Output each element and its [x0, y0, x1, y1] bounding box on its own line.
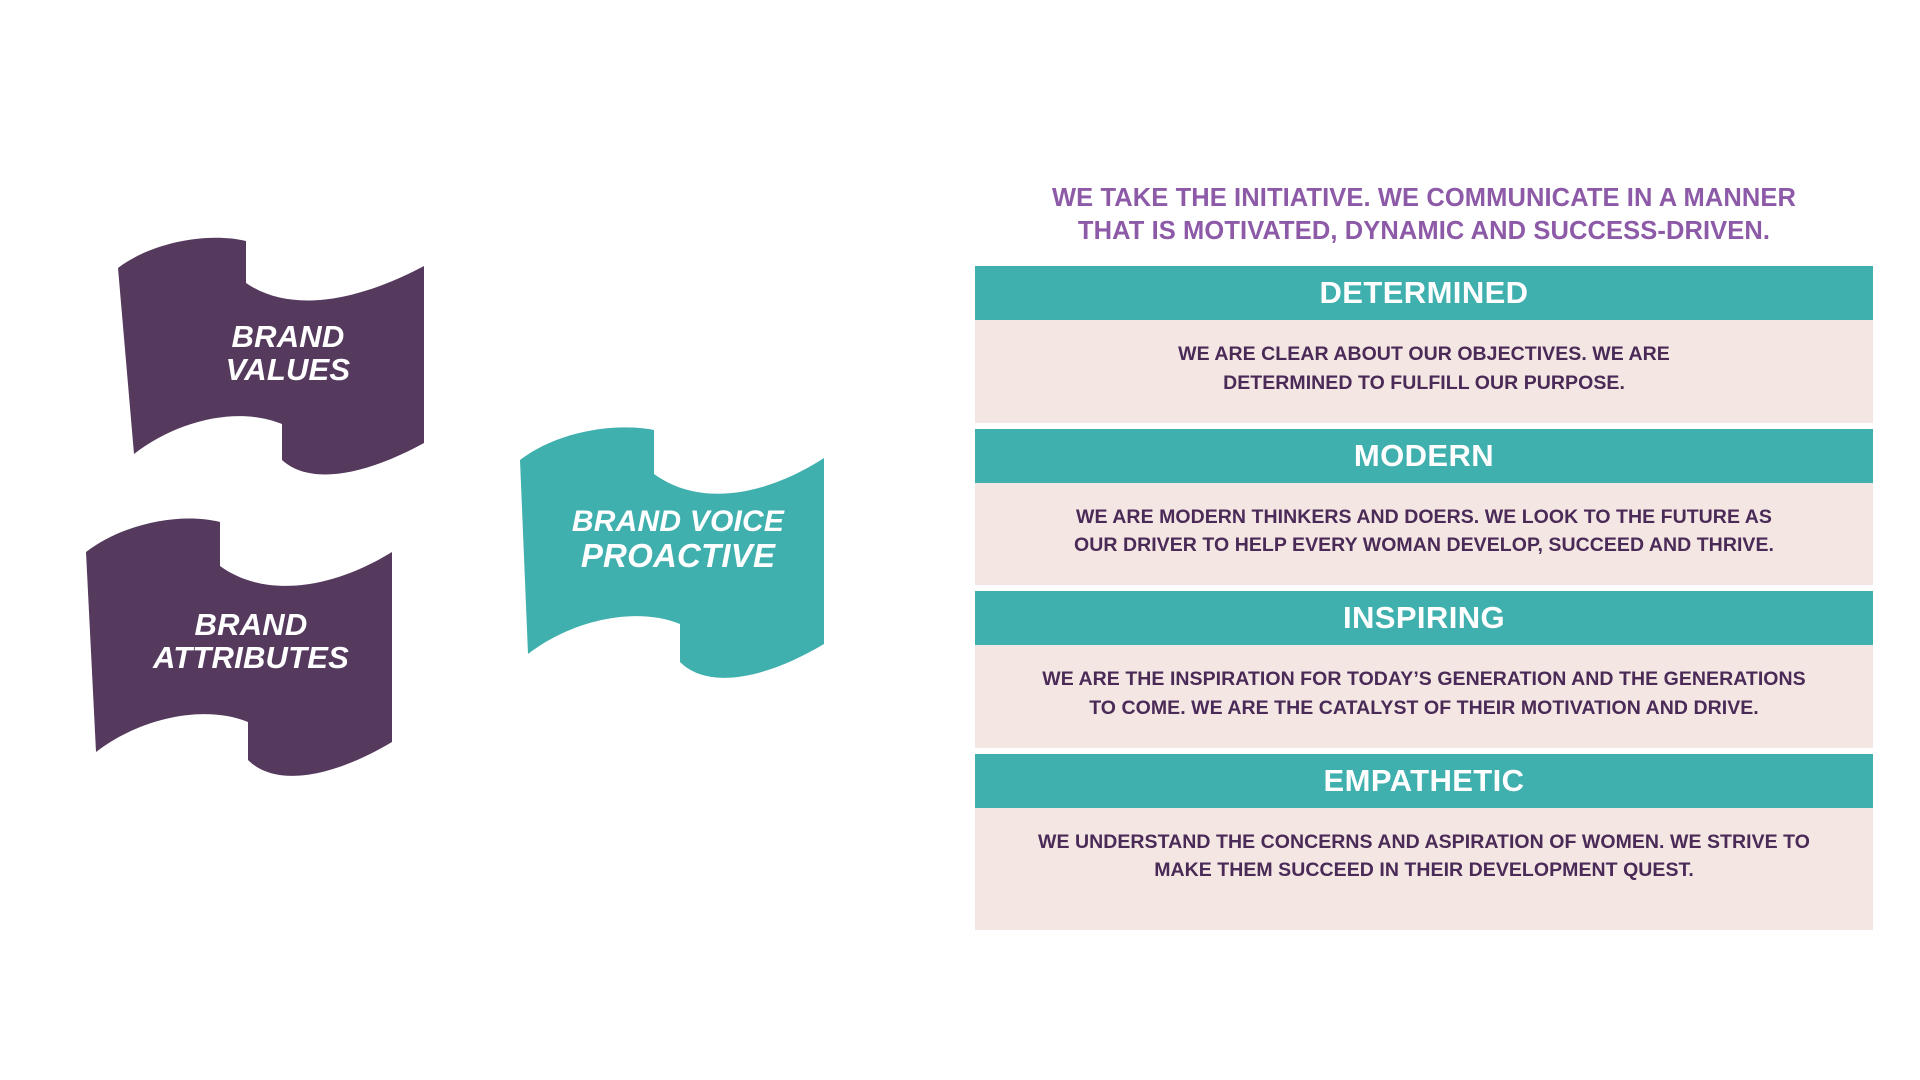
- value-block-determined: DETERMINED WE ARE CLEAR ABOUT OUR OBJECT…: [975, 266, 1873, 423]
- brand-voice-values-panel: WE TAKE THE INITIATIVE. WE COMMUNICATE I…: [975, 182, 1873, 936]
- value-body-inspiring: WE ARE THE INSPIRATION FOR TODAY’S GENER…: [975, 645, 1873, 748]
- value-title-empathetic: EMPATHETIC: [975, 754, 1873, 808]
- value-title-determined: DETERMINED: [975, 266, 1873, 320]
- value-title-inspiring: INSPIRING: [975, 591, 1873, 645]
- value-body-determined: WE ARE CLEAR ABOUT OUR OBJECTIVES. WE AR…: [975, 320, 1873, 423]
- value-title-modern: MODERN: [975, 429, 1873, 483]
- value-block-empathetic: EMPATHETIC WE UNDERSTAND THE CONCERNS AN…: [975, 754, 1873, 931]
- value-body-modern: WE ARE MODERN THINKERS AND DOERS. WE LOO…: [975, 483, 1873, 586]
- brand-values-flag: BRAND VALUES: [112, 238, 430, 488]
- flag-shape-icon: [112, 238, 430, 488]
- brand-attributes-flag: BRAND ATTRIBUTES: [78, 518, 398, 790]
- flag-shape-icon: [78, 518, 398, 790]
- panel-intro-text: WE TAKE THE INITIATIVE. WE COMMUNICATE I…: [975, 182, 1873, 248]
- brand-voice-flag: BRAND VOICEPROACTIVE: [512, 428, 828, 690]
- value-block-inspiring: INSPIRING WE ARE THE INSPIRATION FOR TOD…: [975, 591, 1873, 748]
- slide-canvas: BRAND VALUES BRAND ATTRIBUTES BRAND VOIC…: [0, 0, 1920, 1080]
- flag-shape-icon: [512, 428, 828, 690]
- value-body-empathetic: WE UNDERSTAND THE CONCERNS AND ASPIRATIO…: [975, 808, 1873, 931]
- value-block-modern: MODERN WE ARE MODERN THINKERS AND DOERS.…: [975, 429, 1873, 586]
